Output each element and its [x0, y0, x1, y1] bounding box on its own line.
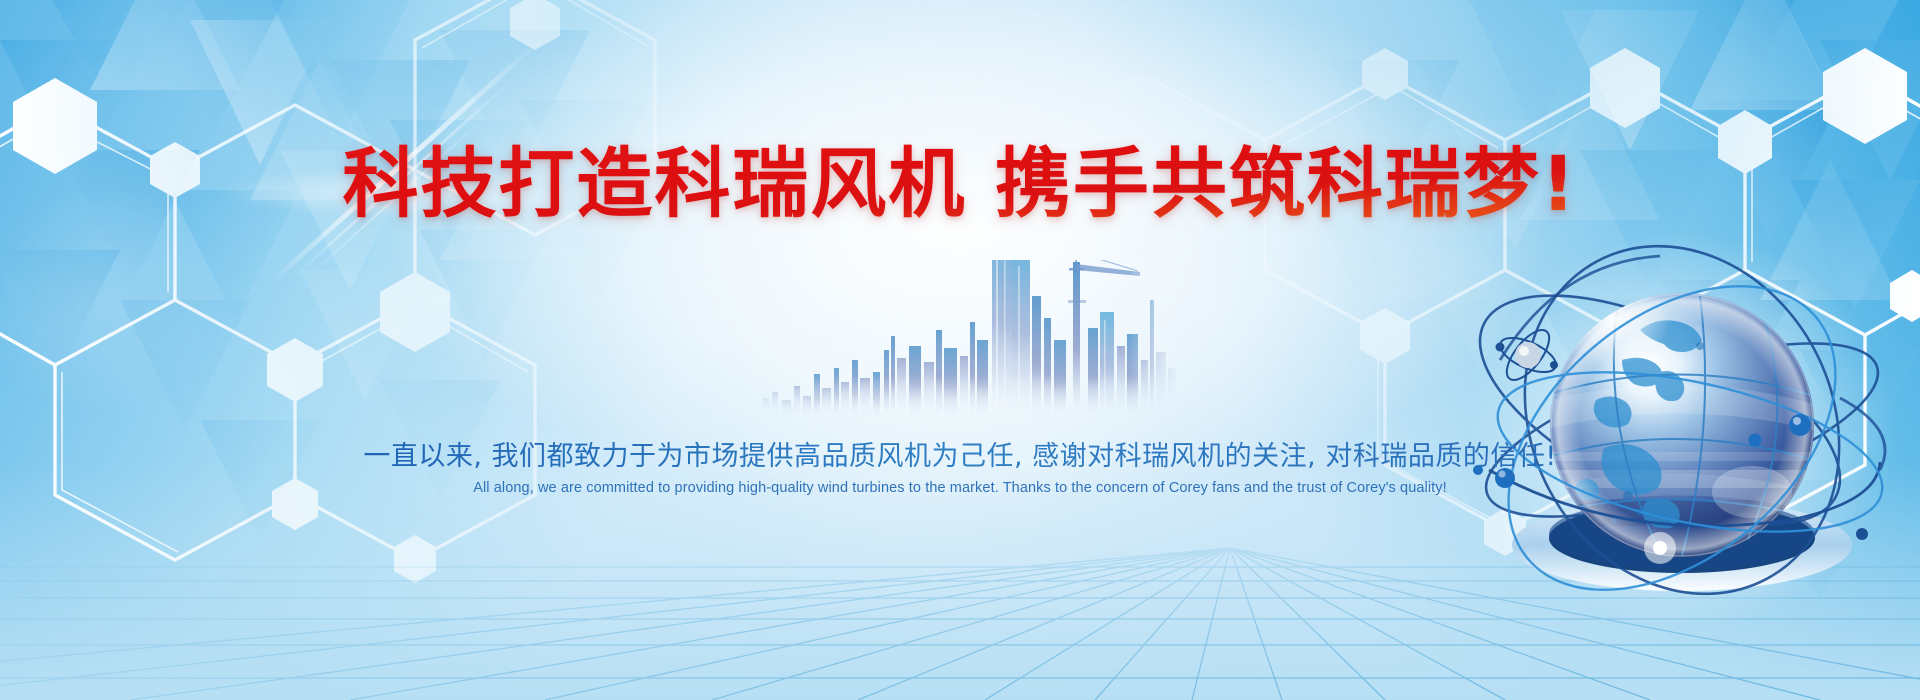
- banner-title: 科技打造科瑞风机 携手共筑科瑞梦!: [0, 122, 1920, 232]
- banner-subtitle-cn: 一直以来, 我们都致力于为市场提供高品质风机为己任, 感谢对科瑞风机的关注, 对…: [0, 434, 1920, 473]
- banner-text: 科技打造科瑞风机 携手共筑科瑞梦! 一直以来, 我们都致力于为市场提供高品质风机…: [0, 0, 1920, 700]
- banner-subtitle-en: All along, we are committed to providing…: [0, 480, 1920, 496]
- promo-banner: .hexline{fill:none;stroke:#ffffff;stroke…: [0, 0, 1920, 700]
